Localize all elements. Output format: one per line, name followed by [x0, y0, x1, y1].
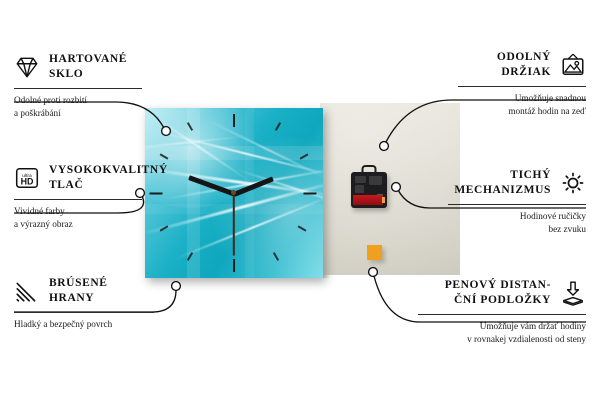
svg-text:HD: HD: [21, 177, 34, 187]
feature-description: Vividné farby a výrazný obraz: [14, 205, 142, 231]
divider: [448, 204, 586, 205]
divider: [14, 312, 154, 313]
feature-hardened-glass: HARTOVANÉ SKLO Odolné proti rozbití a po…: [14, 52, 142, 120]
diamond-icon: [14, 54, 40, 80]
gear-icon: [560, 170, 586, 196]
feature-title: BRÚSENÉ HRANY: [49, 276, 108, 306]
feature-title: TICHÝ MECHANIZMUS: [454, 168, 551, 198]
picture-hanger-icon: [560, 52, 586, 78]
foam-spacer-icon: [560, 280, 586, 306]
infographic-canvas: HARTOVANÉ SKLO Odolné proti rozbití a po…: [0, 0, 600, 400]
mechanism-slot: [369, 176, 382, 185]
mechanism-slot: [355, 176, 366, 183]
divider: [418, 314, 586, 315]
clock-second-hand: [233, 194, 235, 256]
feature-title: VYSOKOKVALITNÝ TLAČ: [49, 163, 168, 193]
clock-center-pin: [231, 190, 236, 195]
wall-clock-product: [145, 108, 323, 278]
feature-description: Hladký a bezpečný povrch: [14, 318, 154, 331]
feature-description: Hodinové ručičky bez zvuku: [448, 210, 586, 236]
feature-title: ODOLNÝ DRŽIAK: [497, 50, 551, 80]
divider: [458, 86, 586, 87]
product-photo-background: [320, 103, 460, 275]
clock-tick: [304, 193, 317, 195]
feature-description: Odolné proti rozbití a poškrábání: [14, 94, 142, 120]
feature-title: HARTOVANÉ SKLO: [49, 52, 127, 82]
feature-description: Umožňuje snadnou montáž hodin na zeď: [458, 92, 586, 118]
feature-foam-spacers: PENOVÝ DISTAN- ČNÍ PODLOŽKY Umožňuje vám…: [418, 278, 586, 346]
mechanism-hanger: [362, 165, 377, 174]
feature-polished-edges: BRÚSENÉ HRANY Hladký a bezpečný povrch: [14, 276, 154, 331]
feature-title: PENOVÝ DISTAN- ČNÍ PODLOŽKY: [445, 278, 551, 308]
polished-edges-icon: [14, 278, 40, 304]
clock-mechanism: [351, 172, 387, 208]
connector-dot-left-3: [172, 282, 181, 291]
ultra-hd-icon: ultra HD: [14, 165, 40, 191]
battery: [353, 195, 383, 205]
feature-durable-hanger: ODOLNÝ DRŽIAK Umožňuje snadnou montáž ho…: [458, 50, 586, 118]
feature-description: Umožňuje vám držať hodiny v rovnakej vzd…: [418, 320, 586, 346]
divider: [14, 88, 142, 89]
divider: [14, 199, 142, 200]
mechanism-slot: [355, 185, 364, 193]
feature-silent-mechanism: TICHÝ MECHANIZMUS Hodinové ručičky bez z…: [448, 168, 586, 236]
clock-tick: [233, 114, 235, 127]
foam-spacer-pad: [367, 245, 382, 260]
feature-high-quality-print: ultra HD VYSOKOKVALITNÝ TLAČ Vividné far…: [14, 163, 142, 231]
clock-tick: [233, 259, 235, 272]
